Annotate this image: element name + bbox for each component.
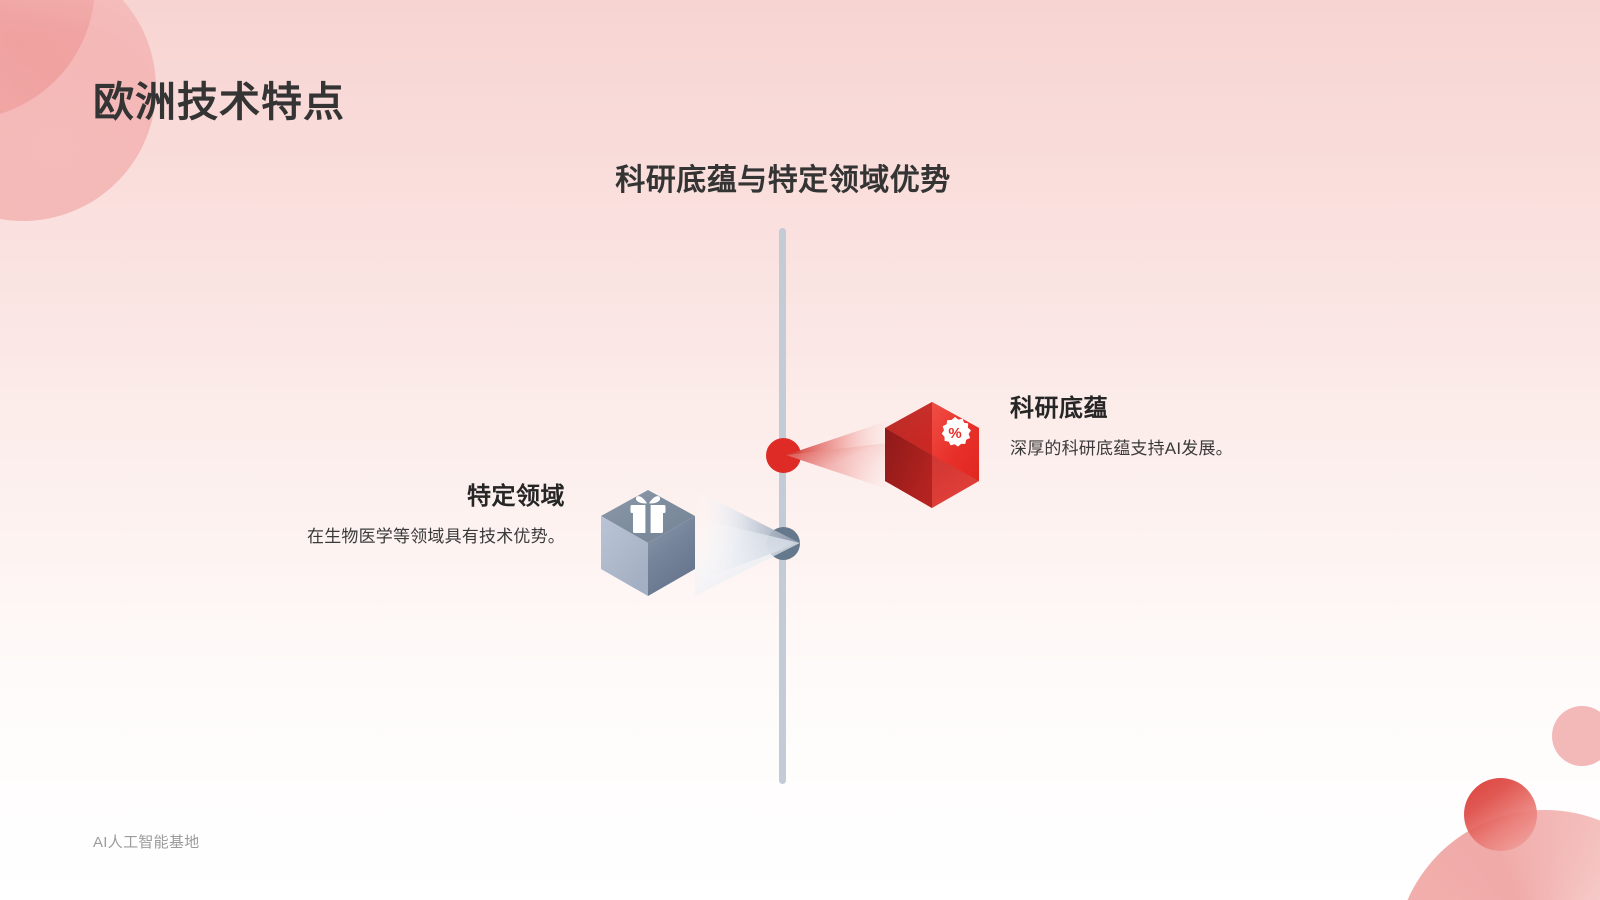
svg-text:%: % (948, 425, 961, 442)
cube-graphic-domain (590, 470, 800, 615)
decorative-circle-bottom-right (1464, 778, 1537, 851)
item-desc-domain: 在生物医学等领域具有技术优势。 (255, 525, 565, 549)
timeline-item-domain[interactable]: 特定领域 在生物医学等领域具有技术优势。 (255, 458, 800, 613)
decorative-ring-top-left (0, 0, 95, 120)
item-text-domain: 特定领域 在生物医学等领域具有技术优势。 (255, 476, 565, 549)
item-text-research: 科研底蕴 深厚的科研底蕴支持AI发展。 (1010, 388, 1310, 461)
slide-canvas: 欧洲技术特点 科研底蕴与特定领域优势 (0, 0, 1600, 900)
section-subtitle: 科研底蕴与特定领域优势 (0, 155, 1566, 199)
footer-label: AI人工智能基地 (93, 831, 200, 852)
decorative-ring-bottom-right (1395, 810, 1600, 900)
item-title-domain: 特定领域 (255, 476, 565, 511)
cube-graphic-research: % (840, 370, 990, 515)
decorative-circle-right (1552, 706, 1600, 766)
item-title-research: 科研底蕴 (1010, 388, 1310, 423)
page-title: 欧洲技术特点 (93, 68, 345, 128)
item-desc-research: 深厚的科研底蕴支持AI发展。 (1010, 437, 1310, 461)
timeline-item-research[interactable]: % 科研底蕴 深厚的科研底蕴支持AI发展。 (840, 370, 1270, 515)
